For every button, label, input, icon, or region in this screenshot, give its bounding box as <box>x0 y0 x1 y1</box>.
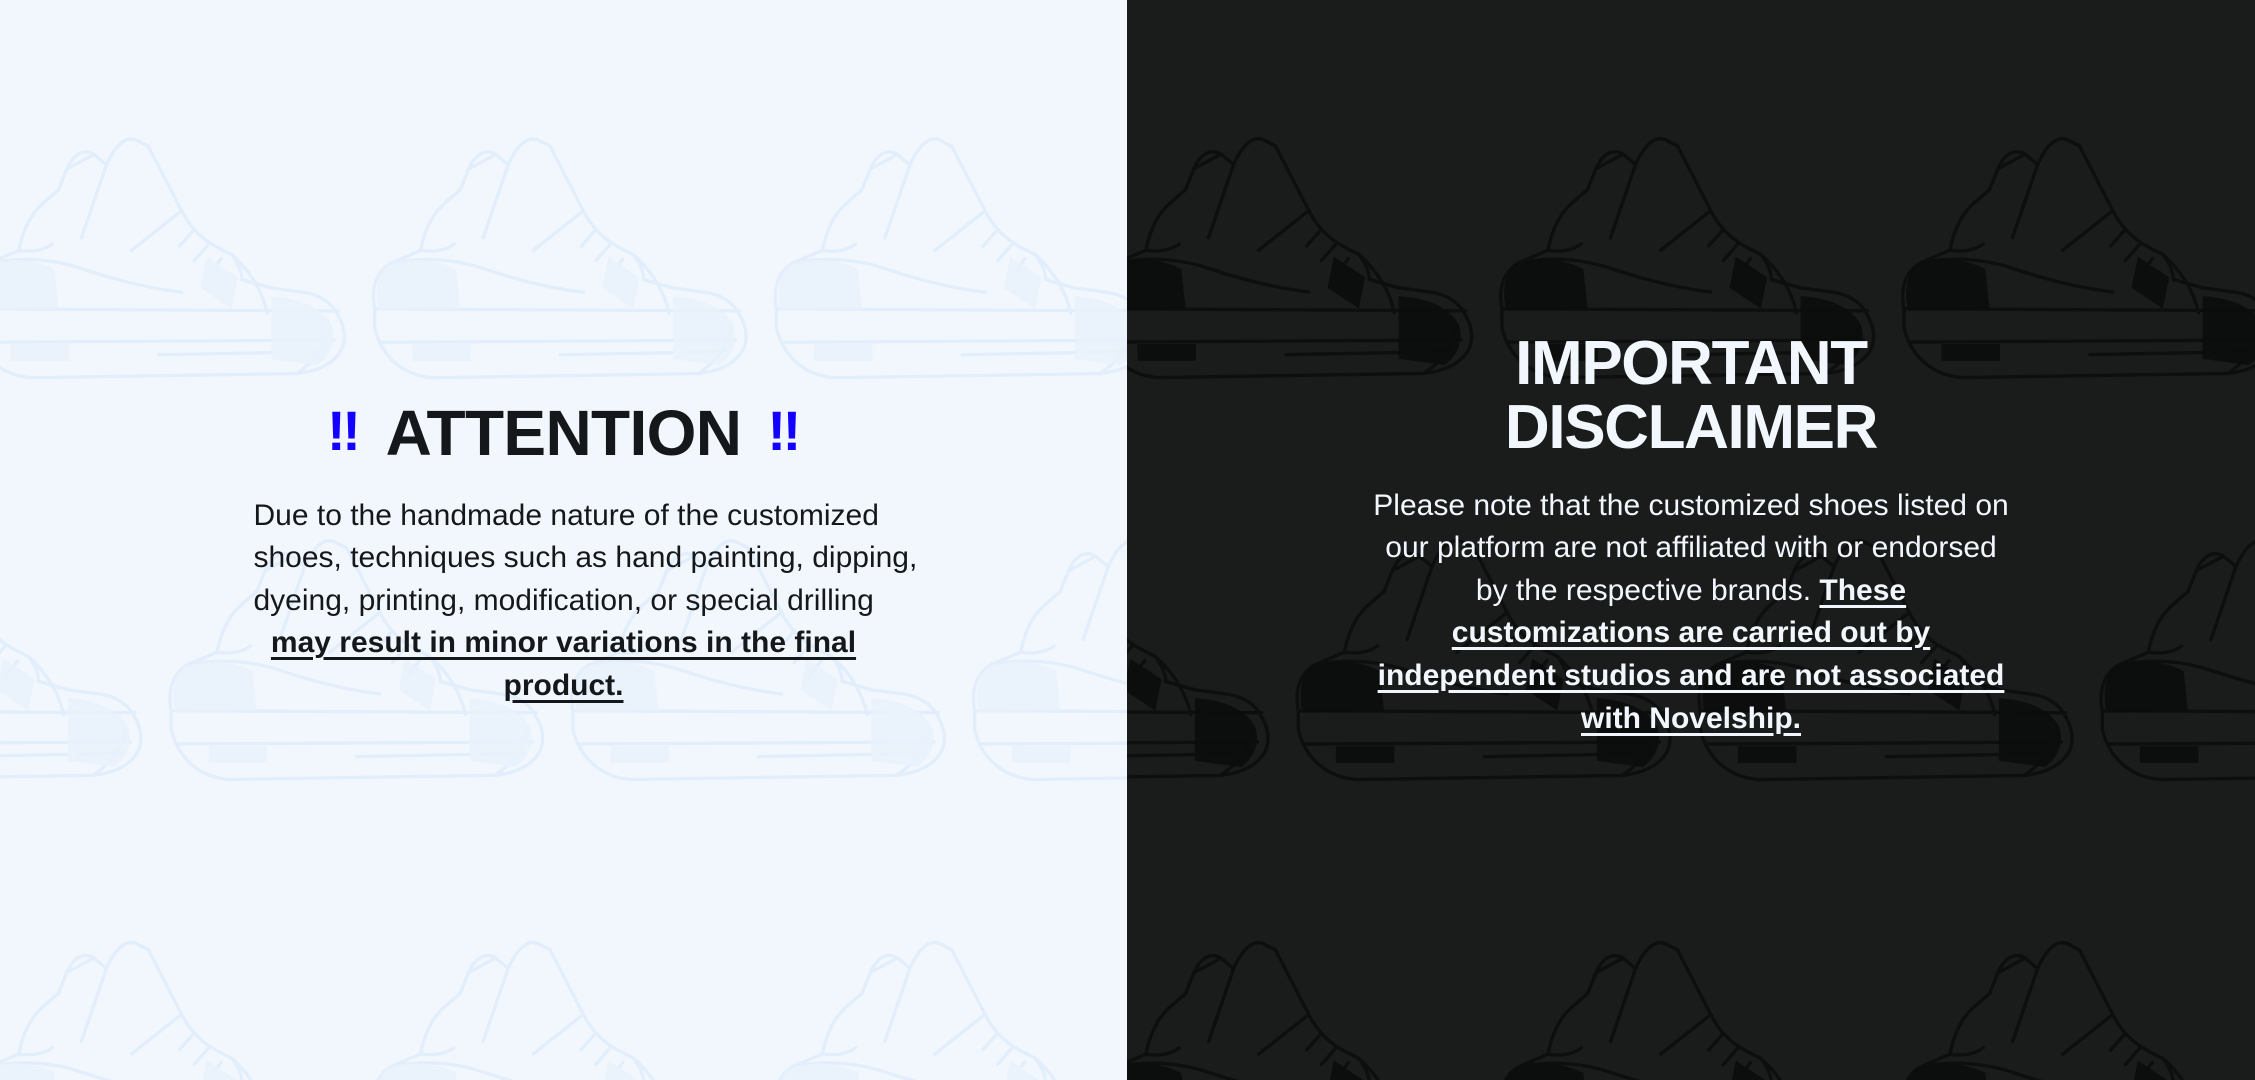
attention-panel: ‼ ATTENTION ‼ Due to the handmade nature… <box>0 0 1127 1080</box>
disclaimer-body: Please note that the customized shoes li… <box>1371 485 2011 741</box>
double-exclamation-icon-right: ‼ <box>767 403 800 459</box>
attention-body-line: shoes, techniques such as hand painting,… <box>254 537 874 580</box>
attention-content: ‼ ATTENTION ‼ Due to the handmade nature… <box>0 401 1127 708</box>
disclaimer-content: IMPORTANT DISCLAIMER Please note that th… <box>1127 332 2255 741</box>
attention-body-line: dyeing, printing, modification, or speci… <box>254 580 874 623</box>
attention-body: Due to the handmade nature of the custom… <box>254 495 874 708</box>
disclaimer-panel: IMPORTANT DISCLAIMER Please note that th… <box>1127 0 2255 1080</box>
attention-emphasis-line: product. <box>504 669 624 702</box>
attention-body-line: Due to the handmade nature of the custom… <box>254 495 874 538</box>
double-exclamation-icon-left: ‼ <box>327 403 360 459</box>
disclaimer-banner: ‼ ATTENTION ‼ Due to the handmade nature… <box>0 0 2255 1080</box>
attention-heading-row: ‼ ATTENTION ‼ <box>150 401 977 465</box>
disclaimer-body-normal: Please note that the customized shoes li… <box>1373 489 2008 607</box>
disclaimer-heading-line-2: DISCLAIMER <box>1287 396 2095 460</box>
attention-heading: ATTENTION <box>386 401 742 465</box>
disclaimer-heading: IMPORTANT DISCLAIMER <box>1287 332 2095 461</box>
disclaimer-heading-line-1: IMPORTANT <box>1287 332 2095 396</box>
attention-emphasis-line: may result in minor variations in the fi… <box>271 626 856 659</box>
